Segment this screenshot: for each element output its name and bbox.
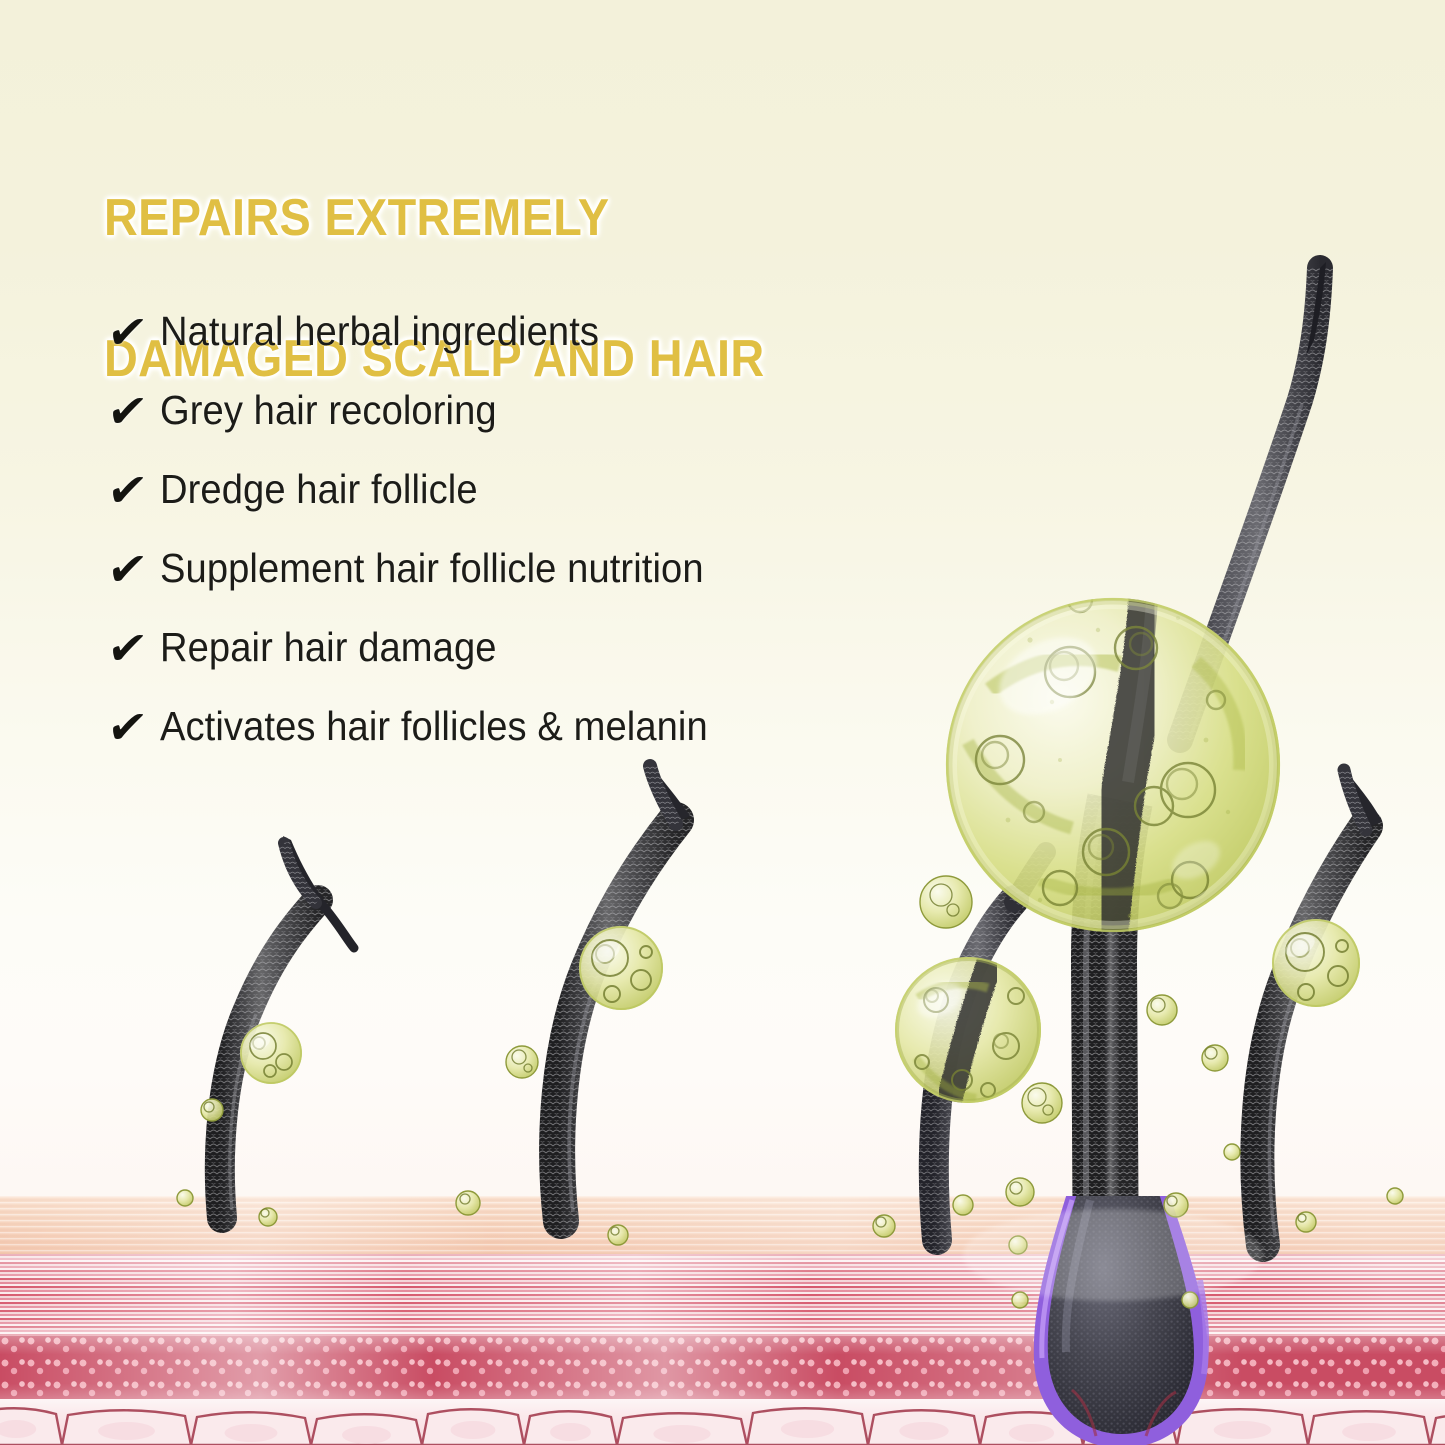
hair-shaft-main: [1086, 262, 1326, 1290]
check-icon: ✔: [105, 467, 163, 513]
list-item-label: Grey hair recoloring: [160, 390, 497, 431]
check-icon: ✔: [105, 388, 163, 434]
list-item-label: Dredge hair follicle: [160, 469, 478, 510]
list-item-label: Activates hair follicles & melanin: [160, 706, 708, 747]
benefit-list: ✔ Natural herbal ingredients ✔ Grey hair…: [108, 292, 938, 766]
serum-bubble-medium: [895, 952, 1041, 1122]
serum-bubble-on-mid-hair: [579, 926, 663, 1010]
fat-layer-sheen: [0, 1399, 1445, 1445]
list-item: ✔ Activates hair follicles & melanin: [108, 687, 938, 766]
list-item: ✔ Natural herbal ingredients: [108, 292, 938, 371]
list-item: ✔ Grey hair recoloring: [108, 371, 938, 450]
product-benefit-infographic: REPAIRS EXTREMELY DAMAGED SCALP AND HAIR…: [0, 0, 1445, 1445]
check-icon: ✔: [105, 704, 163, 750]
list-item: ✔ Repair hair damage: [108, 608, 938, 687]
hypodermis-fat-layer: [0, 1399, 1445, 1445]
check-icon: ✔: [105, 546, 163, 592]
list-item-label: Repair hair damage: [160, 627, 497, 668]
serum-bubble-large: [946, 588, 1280, 932]
check-icon: ✔: [105, 309, 163, 355]
skin-cross-section: [0, 1196, 1445, 1445]
list-item: ✔ Dredge hair follicle: [108, 450, 938, 529]
dermis-striped-layer: [0, 1254, 1445, 1338]
serum-bubble-inner-rings: [204, 884, 1306, 1235]
serum-bubble-on-right-hair: [1272, 919, 1360, 1007]
list-item-label: Natural herbal ingredients: [160, 311, 599, 352]
hair-shaft-right: [1257, 766, 1382, 1245]
check-icon: ✔: [105, 625, 163, 671]
granular-cell-layer: [0, 1336, 1445, 1402]
epidermis-layer: [0, 1196, 1445, 1256]
list-item: ✔ Supplement hair follicle nutrition: [108, 529, 938, 608]
hair-shaft-mid: [557, 762, 690, 1221]
serum-bubble-on-left-hair: [240, 1022, 302, 1084]
list-item-label: Supplement hair follicle nutrition: [160, 548, 704, 589]
page-title-line-1: REPAIRS EXTREMELY: [104, 183, 914, 254]
hair-shaft-behind: [934, 852, 1046, 1240]
fat-cell-cluster: [0, 1399, 1445, 1445]
hair-shaft-left: [220, 836, 354, 1218]
